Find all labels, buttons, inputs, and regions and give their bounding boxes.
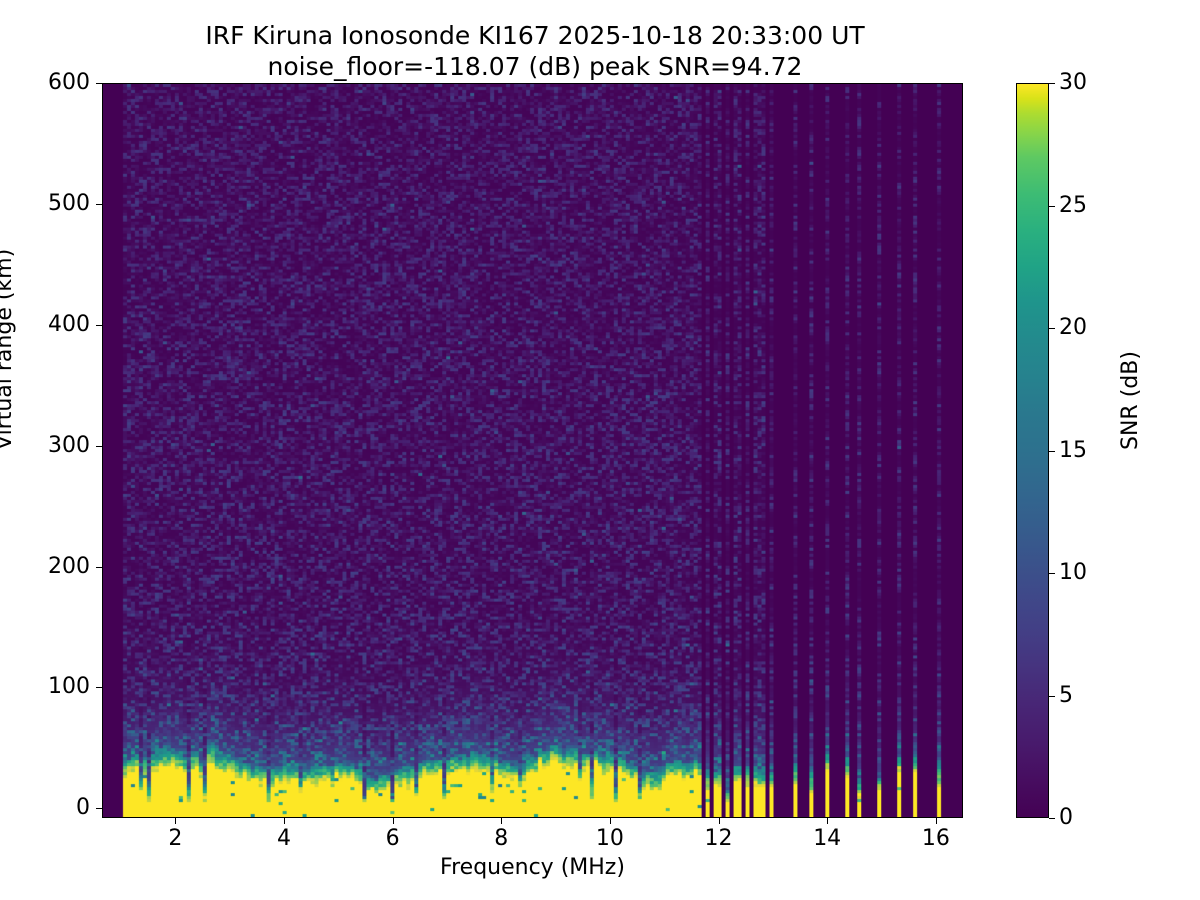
y-tick-label: 100 [0,676,90,698]
y-tick-label: 500 [0,193,90,215]
colorbar-tick-label: 5 [1059,685,1073,707]
y-tick-mark [96,687,102,688]
x-tick-label: 12 [679,828,759,850]
colorbar-label: SNR (dB) [1118,351,1143,450]
colorbar-tick-mark [1049,573,1055,574]
x-tick-label: 6 [353,828,433,850]
y-tick-label: 600 [0,72,90,94]
ionogram-axes [102,83,963,818]
colorbar-gradient [1016,83,1049,818]
x-tick-label: 16 [896,828,976,850]
x-tick-label: 14 [787,828,867,850]
y-tick-mark [96,325,102,326]
y-tick-label: 0 [0,797,90,819]
x-tick-mark [936,818,937,824]
colorbar-container [1016,83,1049,818]
colorbar-tick-label: 25 [1059,195,1087,217]
colorbar-tick-mark [1049,83,1055,84]
colorbar-tick-mark [1049,818,1055,819]
colorbar-tick-label: 10 [1059,562,1087,584]
x-tick-label: 8 [461,828,541,850]
x-tick-mark [393,818,394,824]
x-tick-label: 4 [244,828,324,850]
x-tick-mark [610,818,611,824]
colorbar-tick-mark [1049,328,1055,329]
colorbar-tick-mark [1049,696,1055,697]
x-tick-mark [827,818,828,824]
ionogram-figure: IRF Kiruna Ionosonde KI167 2025-10-18 20… [0,0,1200,900]
y-axis-label: Virtual range (km) [0,249,17,450]
colorbar-tick-label: 0 [1059,807,1073,829]
y-tick-mark [96,446,102,447]
colorbar-tick-mark [1049,451,1055,452]
figure-title: IRF Kiruna Ionosonde KI167 2025-10-18 20… [0,20,1070,82]
x-tick-mark [284,818,285,824]
y-tick-mark [96,204,102,205]
ionogram-heatmap [103,84,962,817]
x-axis-label: Frequency (MHz) [102,855,963,880]
colorbar-tick-label: 15 [1059,440,1087,462]
x-tick-label: 10 [570,828,650,850]
y-tick-mark [96,83,102,84]
y-tick-label: 200 [0,556,90,578]
colorbar-tick-label: 30 [1059,72,1087,94]
colorbar-tick-label: 20 [1059,317,1087,339]
x-tick-mark [501,818,502,824]
x-tick-label: 2 [135,828,215,850]
x-tick-mark [175,818,176,824]
y-tick-mark [96,808,102,809]
y-tick-mark [96,567,102,568]
x-tick-mark [719,818,720,824]
colorbar-tick-mark [1049,206,1055,207]
